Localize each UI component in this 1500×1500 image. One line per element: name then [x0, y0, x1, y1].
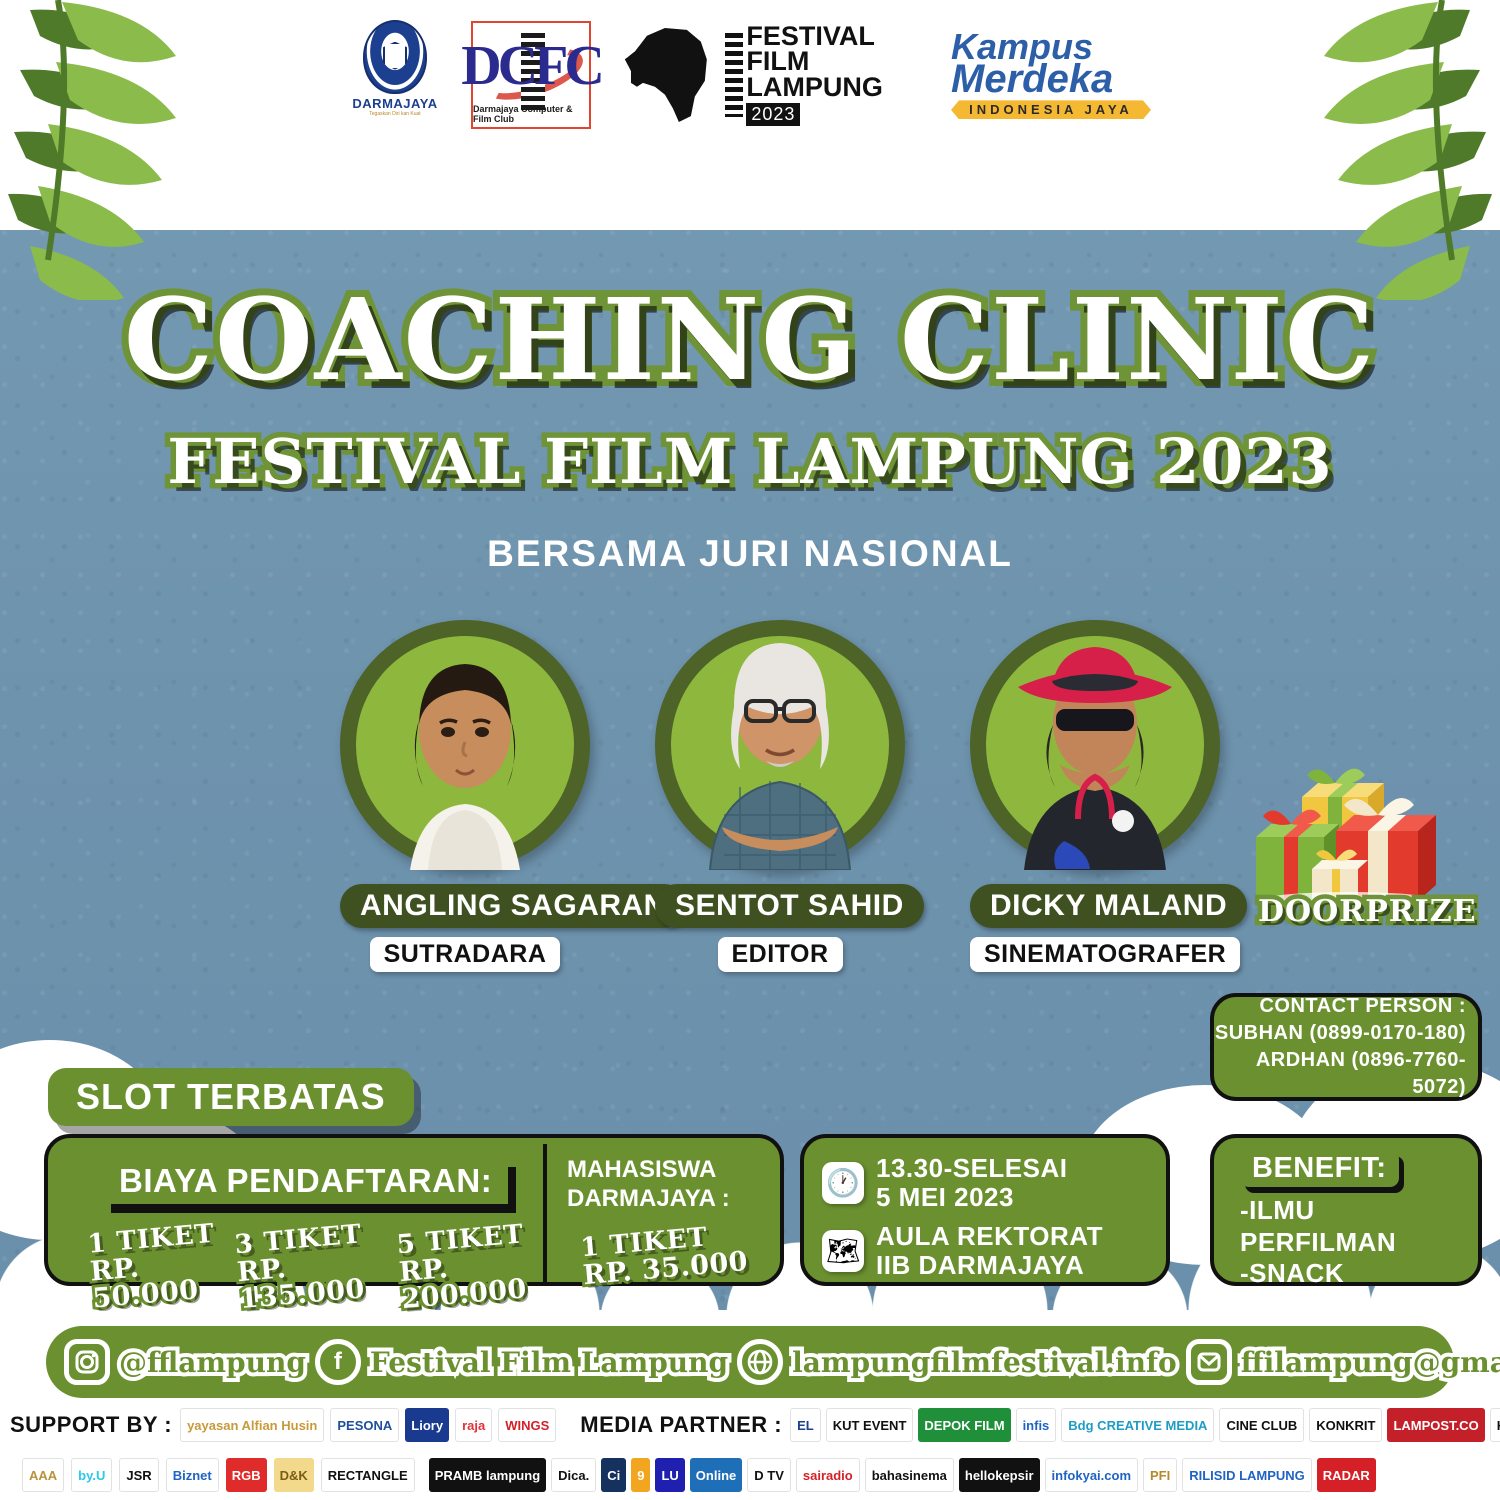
benefit-item-2: -SNACK: [1240, 1258, 1478, 1290]
benefit-item-1: -ILMU PERFILMAN: [1240, 1195, 1478, 1258]
avatar-dicky-maland: [970, 620, 1220, 870]
sponsor-logo: KUT EVENT: [826, 1408, 914, 1442]
contact-heading: CONTACT PERSON :: [1214, 993, 1466, 1020]
support-logos-row2: AAAby.UJSRBiznetRGBD&KRECTANGLE: [22, 1458, 415, 1492]
slot-terbatas-badge: SLOT TERBATAS: [48, 1068, 414, 1126]
fcl-filmstrip-icon: [725, 33, 744, 117]
dcfc-caption: Darmajaya Computer & Film Club: [473, 104, 589, 124]
darmajaya-name: DARMAJAYA: [352, 96, 437, 111]
logo-dcfc: DCFC Darmajaya Computer & Film Club: [471, 21, 591, 129]
contact-text: CONTACT PERSON : SUBHAN (0899-0170-180) …: [1214, 993, 1466, 1101]
jury-name: ANGLING SAGARAN: [340, 884, 686, 928]
instagram-handle[interactable]: @fflampung: [119, 1346, 306, 1379]
jury-name: SENTOT SAHID: [655, 884, 924, 928]
sponsor-logo: Ci: [601, 1458, 626, 1492]
support-by-label: SUPPORT BY :: [10, 1412, 172, 1438]
sponsor-logo: Biznet: [166, 1458, 219, 1492]
sponsor-logo: raja: [455, 1408, 492, 1442]
doorprize-label: DOORPRIZE: [1258, 894, 1448, 929]
media-partner-label: MEDIA PARTNER :: [580, 1412, 782, 1438]
email-address[interactable]: ffilampung@gmail.com: [1241, 1346, 1500, 1379]
elephant-icon: [621, 26, 721, 124]
portrait-illustration: [990, 615, 1200, 870]
sponsor-logo: Dica.: [551, 1458, 596, 1492]
title-block: COACHING CLINIC FESTIVAL FILM LAMPUNG 20…: [0, 285, 1500, 575]
time-line-1: 13.30-SELESAI: [876, 1154, 1067, 1183]
sponsor-logo: bahasinema: [865, 1458, 954, 1492]
sponsor-logo: D&K: [274, 1458, 314, 1492]
schedule-text: 13.30-SELESAI 5 MEI 2023: [876, 1154, 1067, 1212]
clock-icon: 🕐: [822, 1162, 864, 1204]
ticket-amount: RP. 135.000: [236, 1246, 384, 1313]
darmajaya-seal-icon: [363, 20, 427, 94]
sponsor-logo: Online: [690, 1458, 742, 1492]
sponsor-logo: Liory: [405, 1408, 449, 1442]
sponsor-logo: PESONA: [330, 1408, 399, 1442]
kampus-merdeka-line2: Merdeka: [951, 62, 1151, 97]
pricing-heading: BIAYA PENDAFTARAN:: [103, 1158, 508, 1204]
sponsor-logo: 9: [631, 1458, 650, 1492]
location-row: 🗺 AULA REKTORAT IIB DARMAJAYA: [822, 1222, 1166, 1280]
sponsor-logo: yayasan Alfian Husin: [180, 1408, 324, 1442]
schedule-row: 🕐 13.30-SELESAI 5 MEI 2023: [822, 1154, 1166, 1212]
social-media-bar: @fflampung f Festival Film Lampung lampu…: [46, 1326, 1454, 1398]
jury-card-3: DICKY MALAND SINEMATOGRAFER: [970, 620, 1220, 972]
sponsor-logo: JSR: [119, 1458, 158, 1492]
gift-boxes-icon: [1240, 745, 1460, 905]
sponsor-logo: KONKRIT: [1309, 1408, 1382, 1442]
sponsor-logo: RGB: [226, 1458, 267, 1492]
logo-darmajaya: DARMAJAYA Tegaskan Diri kan Kuat: [349, 20, 441, 130]
jury-name: DICKY MALAND: [970, 884, 1247, 928]
media-logos-row1: ELKUT EVENTDEPOK FILMinfisBdg CREATIVE M…: [790, 1408, 1500, 1442]
logo-festival-film-lampung: FESTIVAL FILM LAMPUNG 2023: [621, 20, 921, 130]
sponsor-logo: CINE CLUB: [1219, 1408, 1304, 1442]
student-ticket-option: 1 TIKET RP. 35.000: [544, 1203, 786, 1291]
contact-person-panel: CONTACT PERSON : SUBHAN (0899-0170-180) …: [1210, 993, 1482, 1101]
sponsor-logo: hellokepsir: [959, 1458, 1040, 1492]
sponsor-logo: KNF: [1490, 1408, 1500, 1442]
sponsor-logo: PRAMB lampung: [429, 1458, 546, 1492]
sponsor-logo: RILISID LAMPUNG: [1182, 1458, 1312, 1492]
student-label: MAHASISWA DARMAJAYA :: [547, 1138, 784, 1214]
film-reel-icon: [605, 32, 639, 66]
darmajaya-tagline: Tegaskan Diri kan Kuat: [369, 111, 420, 117]
map-pin-icon: 🗺: [822, 1230, 864, 1272]
kampus-merdeka-ribbon: INDONESIA JAYA: [951, 100, 1151, 119]
ticket-option-1: 1 TIKET RP. 50.000: [87, 1221, 223, 1314]
jury-list: ANGLING SAGARAN SUTRADARA: [340, 620, 1220, 972]
benefit-heading: BENEFIT:: [1240, 1150, 1399, 1187]
facebook-handle[interactable]: Festival Film Lampung: [370, 1346, 728, 1379]
jury-card-1: ANGLING SAGARAN SUTRADARA: [340, 620, 590, 972]
sponsor-logo: PFI: [1143, 1458, 1177, 1492]
sponsor-logo: LAMPOST.CO: [1387, 1408, 1484, 1442]
avatar-angling-sagaran: [340, 620, 590, 870]
jury-role: EDITOR: [718, 937, 843, 972]
fcl-text-block: FESTIVAL FILM LAMPUNG 2023: [725, 24, 921, 127]
fcl-line2: FILM LAMPUNG: [746, 49, 921, 100]
email-icon[interactable]: [1186, 1339, 1232, 1385]
ticket-amount: RP. 200.000: [398, 1246, 546, 1313]
sponsor-logo: AAA: [22, 1458, 64, 1492]
sponsor-logo: EL: [790, 1408, 821, 1442]
sponsor-logo: WINGS: [498, 1408, 556, 1442]
portrait-illustration: [370, 620, 560, 870]
contact-line-1: SUBHAN (0899-0170-180): [1214, 1020, 1466, 1047]
sponsor-logo: LU: [655, 1458, 684, 1492]
ticket-amount: RP. 50.000: [89, 1247, 222, 1313]
sponsor-logo: infokyai.com: [1045, 1458, 1138, 1492]
ticket-list: 1 TIKET RP. 50.000 3 TIKET RP. 135.000 5…: [48, 1204, 543, 1308]
location-text: AULA REKTORAT IIB DARMAJAYA: [876, 1222, 1103, 1280]
footer-row-2: AAAby.UJSRBiznetRGBD&KRECTANGLE PRAMB la…: [0, 1450, 1500, 1500]
ticket-option-3: 5 TIKET RP. 200.000: [396, 1220, 547, 1314]
sponsor-logo: Bdg CREATIVE MEDIA: [1061, 1408, 1214, 1442]
portrait-illustration: [680, 615, 880, 870]
jury-role: SINEMATOGRAFER: [970, 937, 1240, 972]
sponsor-logo: RADAR: [1317, 1458, 1376, 1492]
sponsor-logo-strip: DARMAJAYA Tegaskan Diri kan Kuat DCFC Da…: [0, 0, 1500, 150]
media-logos-row2: PRAMB lampungDica.Ci9LUOnlineD TVsairadi…: [429, 1458, 1376, 1492]
place-line-1: AULA REKTORAT: [876, 1222, 1103, 1251]
globe-icon[interactable]: [737, 1339, 783, 1385]
sponsor-logo: D TV: [747, 1458, 791, 1492]
student-label-line1: MAHASISWA: [567, 1156, 784, 1185]
footer-sponsors: SUPPORT BY : yayasan Alfian HusinPESONAL…: [0, 1400, 1500, 1500]
fcl-year: 2023: [746, 103, 800, 126]
benefit-item-3: -SERTIFIKAT: [1240, 1290, 1478, 1322]
page-subtitle: FESTIVAL FILM LAMPUNG 2023: [167, 431, 1332, 493]
ticket-option-2: 3 TIKET RP. 135.000: [234, 1220, 385, 1314]
sponsor-logo: RECTANGLE: [321, 1458, 415, 1492]
avatar-sentot-sahid: [655, 620, 905, 870]
pricing-student: MAHASISWA DARMAJAYA : 1 TIKET RP. 35.000: [547, 1138, 784, 1282]
logo-kampus-merdeka: Kampus Merdeka INDONESIA JAYA: [951, 20, 1151, 130]
sponsor-logo: by.U: [71, 1458, 112, 1492]
support-logos-row1: yayasan Alfian HusinPESONALioryrajaWINGS: [180, 1408, 556, 1442]
dcfc-mark: DCFC: [473, 27, 589, 105]
pricing-general: BIAYA PENDAFTARAN: 1 TIKET RP. 50.000 3 …: [48, 1138, 543, 1282]
bersama-juri-label: BERSAMA JURI NASIONAL: [0, 533, 1500, 575]
benefit-list: -ILMU PERFILMAN -SNACK -SERTIFIKAT: [1240, 1195, 1478, 1322]
facebook-icon[interactable]: f: [315, 1339, 361, 1385]
instagram-icon[interactable]: [64, 1339, 110, 1385]
sponsor-logo: infis: [1016, 1408, 1057, 1442]
poster-canvas: DARMAJAYA Tegaskan Diri kan Kuat DCFC Da…: [0, 0, 1500, 1500]
schedule-location-panel: 🕐 13.30-SELESAI 5 MEI 2023 🗺 AULA REKTOR…: [800, 1134, 1170, 1286]
jury-card-2: SENTOT SAHID EDITOR: [655, 620, 905, 972]
time-line-2: 5 MEI 2023: [876, 1183, 1067, 1212]
doorprize-graphic: DOORPRIZE: [1240, 745, 1460, 925]
footer-row-1: SUPPORT BY : yayasan Alfian HusinPESONAL…: [0, 1400, 1500, 1450]
benefit-panel: BENEFIT: -ILMU PERFILMAN -SNACK -SERTIFI…: [1210, 1134, 1482, 1286]
website-url[interactable]: lampungfilmfestival.info: [792, 1346, 1177, 1379]
contact-line-2: ARDHAN (0896-7760-5072): [1214, 1047, 1466, 1101]
sponsor-logo: sairadio: [796, 1458, 860, 1492]
place-line-2: IIB DARMAJAYA: [876, 1251, 1103, 1280]
sponsor-logo: DEPOK FILM: [918, 1408, 1010, 1442]
pricing-panel: BIAYA PENDAFTARAN: 1 TIKET RP. 50.000 3 …: [44, 1134, 784, 1286]
jury-role: SUTRADARA: [370, 937, 561, 972]
page-title: COACHING CLINIC: [124, 285, 1376, 397]
